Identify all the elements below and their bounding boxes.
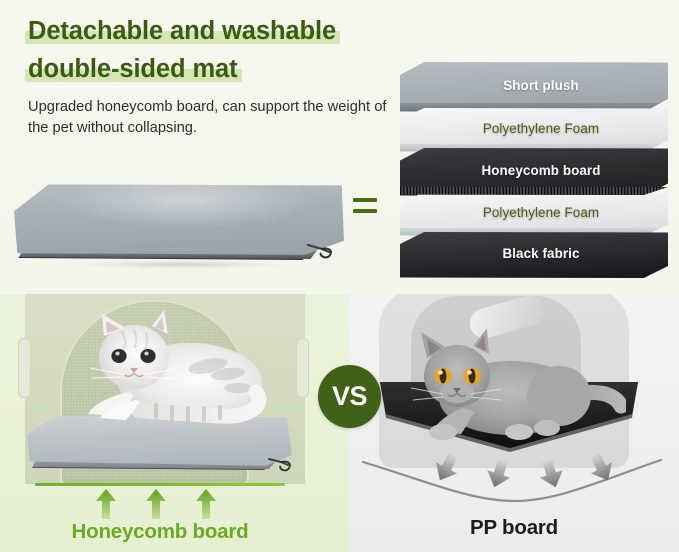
subtitle-text: Upgraded honeycomb board, can support th…	[28, 97, 388, 138]
equals-bar-top	[353, 198, 377, 202]
vs-badge: VS	[318, 365, 381, 428]
title-line-1: Detachable and washable	[28, 14, 336, 48]
panel-pp-board: PP board	[349, 294, 679, 552]
layer-polyethylene-foam-lower: Polyethylene Foam	[400, 192, 668, 236]
support-arrow-up-3	[196, 489, 216, 519]
label-honeycomb-board: Honeycomb board	[0, 520, 320, 544]
support-arrow-up-1	[96, 489, 116, 519]
layer-honeycomb-board: Honeycomb board	[400, 148, 668, 196]
layer-black-fabric: Black fabric	[400, 232, 668, 278]
label-pp-board: PP board	[349, 516, 679, 540]
title-line-1-text: Detachable and washable	[28, 17, 336, 45]
layer-stack-diagram: Short plush Polyethylene Foam Honeycomb …	[400, 62, 672, 280]
honeycomb-flute-edge	[400, 187, 668, 195]
title-line-2-text: double-sided mat	[28, 55, 238, 83]
cat-white-photo	[60, 308, 290, 438]
layer-label-foam-lower: Polyethylene Foam	[483, 205, 599, 220]
layer-polyethylene-foam-upper: Polyethylene Foam	[400, 108, 668, 152]
layer-short-plush: Short plush	[400, 62, 668, 112]
layer-label-short-plush: Short plush	[503, 78, 579, 93]
carrier-strap-left	[18, 338, 31, 398]
zipper-pull-icon	[267, 454, 293, 474]
mat-product-illustration	[14, 183, 344, 279]
carrier-strap-right	[296, 338, 309, 398]
mat-shadow	[36, 259, 326, 270]
cat-grey-photo	[391, 322, 626, 457]
layer-label-black-fabric: Black fabric	[502, 246, 579, 261]
zipper-pull-icon	[306, 240, 334, 262]
title-line-2: double-sided mat	[28, 52, 238, 86]
honeycomb-reference-line	[35, 483, 285, 486]
layer-label-honeycomb-board: Honeycomb board	[481, 163, 600, 178]
equals-sign	[353, 198, 377, 220]
mat-surface-sheen	[14, 183, 344, 261]
product-infographic: Detachable and washable double-sided mat…	[0, 0, 679, 552]
vs-badge-text: VS	[332, 381, 367, 412]
headline-block: Detachable and washable double-sided mat…	[28, 14, 398, 138]
top-section: Detachable and washable double-sided mat…	[0, 0, 679, 294]
panel-honeycomb: Honeycomb board	[0, 294, 349, 552]
support-arrow-up-2	[146, 489, 166, 519]
equals-bar-bottom	[353, 209, 377, 213]
layer-label-foam-upper: Polyethylene Foam	[483, 121, 599, 136]
comparison-section: Honeycomb board	[0, 294, 679, 552]
